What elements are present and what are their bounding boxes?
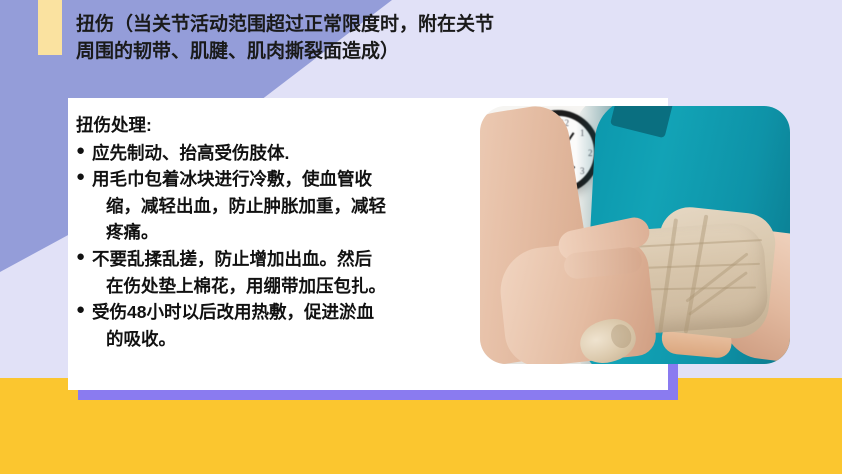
slide-title: 扭伤（当关节活动范围超过正常限度时，附在关节 周围的韧带、肌腱、肌肉撕裂面造成） xyxy=(76,12,696,66)
list-item-line: 缩，减轻出血，防止肿胀加重，减轻 xyxy=(92,193,476,220)
treatment-heading: 扭伤处理: xyxy=(76,112,476,139)
list-item-line: 用毛巾包着冰块进行冷敷，使血管收 xyxy=(92,166,476,193)
slide-canvas: 扭伤（当关节活动范围超过正常限度时，附在关节 周围的韧带、肌腱、肌肉撕裂面造成）… xyxy=(0,0,842,474)
list-item-text: 应先制动、抬高受伤肢体. xyxy=(92,140,476,167)
list-item: ● 受伤48小时以后改用热敷，促进淤血 的吸收。 xyxy=(76,299,476,352)
list-item-line: 应先制动、抬高受伤肢体. xyxy=(92,140,476,167)
list-item-line: 的吸收。 xyxy=(92,326,476,353)
list-item: ● 不要乱揉乱搓，防止增加出血。然后 在伤处垫上棉花，用绷带加压包扎。 xyxy=(76,246,476,299)
list-item-line: 疼痛。 xyxy=(92,219,476,246)
list-item-line: 受伤48小时以后改用热敷，促进淤血 xyxy=(92,299,476,326)
bullet-icon: ● xyxy=(76,246,92,269)
slide-title-line-1: 扭伤（当关节活动范围超过正常限度时，附在关节 xyxy=(76,12,696,39)
list-item-text: 受伤48小时以后改用热敷，促进淤血 的吸收。 xyxy=(92,299,476,352)
list-item: ● 用毛巾包着冰块进行冷敷，使血管收 缩，减轻出血，防止肿胀加重，减轻 疼痛。 xyxy=(76,166,476,246)
slide-title-line-2: 周围的韧带、肌腱、肌肉撕裂面造成） xyxy=(76,39,696,66)
bullet-icon: ● xyxy=(76,140,92,163)
list-item-line: 不要乱揉乱搓，防止增加出血。然后 xyxy=(92,246,476,273)
background-right-edge xyxy=(836,0,842,378)
title-accent-bar xyxy=(38,0,62,55)
bullet-icon: ● xyxy=(76,299,92,322)
bullet-icon: ● xyxy=(76,166,92,189)
list-item-text: 不要乱揉乱搓，防止增加出血。然后 在伤处垫上棉花，用绷带加压包扎。 xyxy=(92,246,476,299)
treatment-list: 扭伤处理: ● 应先制动、抬高受伤肢体. ● 用毛巾包着冰块进行冷敷，使血管收 … xyxy=(76,112,476,352)
list-item-line: 在伤处垫上棉花，用绷带加压包扎。 xyxy=(92,273,476,300)
list-item-text: 用毛巾包着冰块进行冷敷，使血管收 缩，减轻出血，防止肿胀加重，减轻 疼痛。 xyxy=(92,166,476,246)
bandaging-photo: 12 1 2 3 4 5 6 7 8 xyxy=(480,106,790,364)
list-item: ● 应先制动、抬高受伤肢体. xyxy=(76,140,476,167)
